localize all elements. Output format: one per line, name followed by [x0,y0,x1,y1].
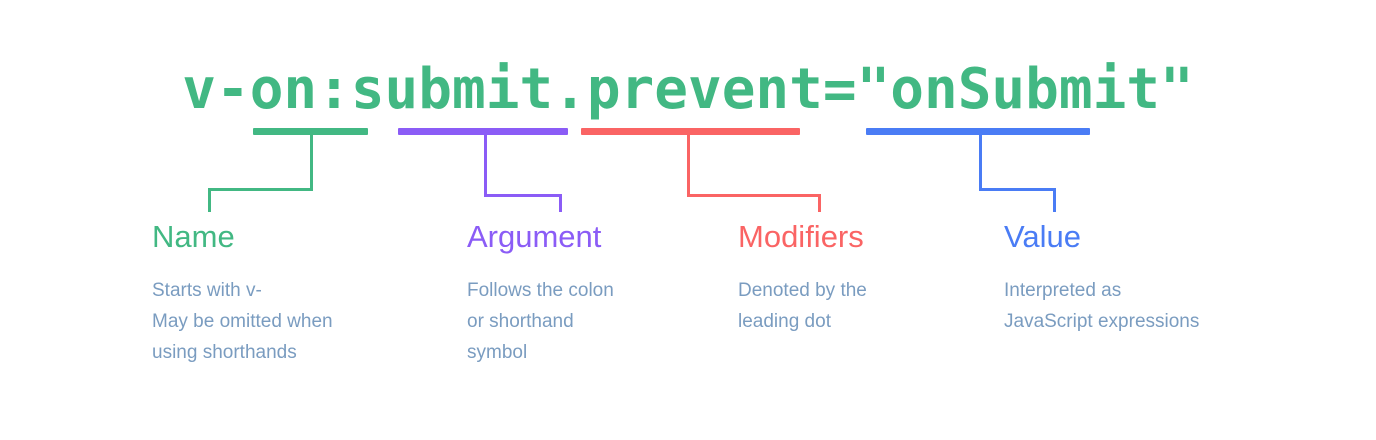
underline-bar-value [866,128,1090,135]
label-description-name: Starts with v- May be omitted when using… [152,256,452,368]
label-title-name: Name [152,218,452,256]
directive-code-line: v-on:submit.prevent="onSubmit" [0,58,1376,122]
underline-bar-argument [398,128,568,135]
label-title-modifiers: Modifiers [738,218,988,256]
label-column-name: Name Starts with v- May be omitted when … [152,218,452,368]
label-title-value: Value [1004,218,1304,256]
underline-bar-name [253,128,368,135]
label-column-argument: Argument Follows the colon or shorthand … [467,218,717,368]
label-column-value: Value Interpreted as JavaScript expressi… [1004,218,1304,337]
underline-bar-modifiers [581,128,800,135]
label-description-modifiers: Denoted by the leading dot [738,256,988,337]
vue-directive-syntax-diagram: v-on:submit.prevent="onSubmit" Name Star… [0,0,1376,440]
label-description-value: Interpreted as JavaScript expressions [1004,256,1304,337]
label-description-argument: Follows the colon or shorthand symbol [467,256,717,368]
label-title-argument: Argument [467,218,717,256]
label-column-modifiers: Modifiers Denoted by the leading dot [738,218,988,337]
